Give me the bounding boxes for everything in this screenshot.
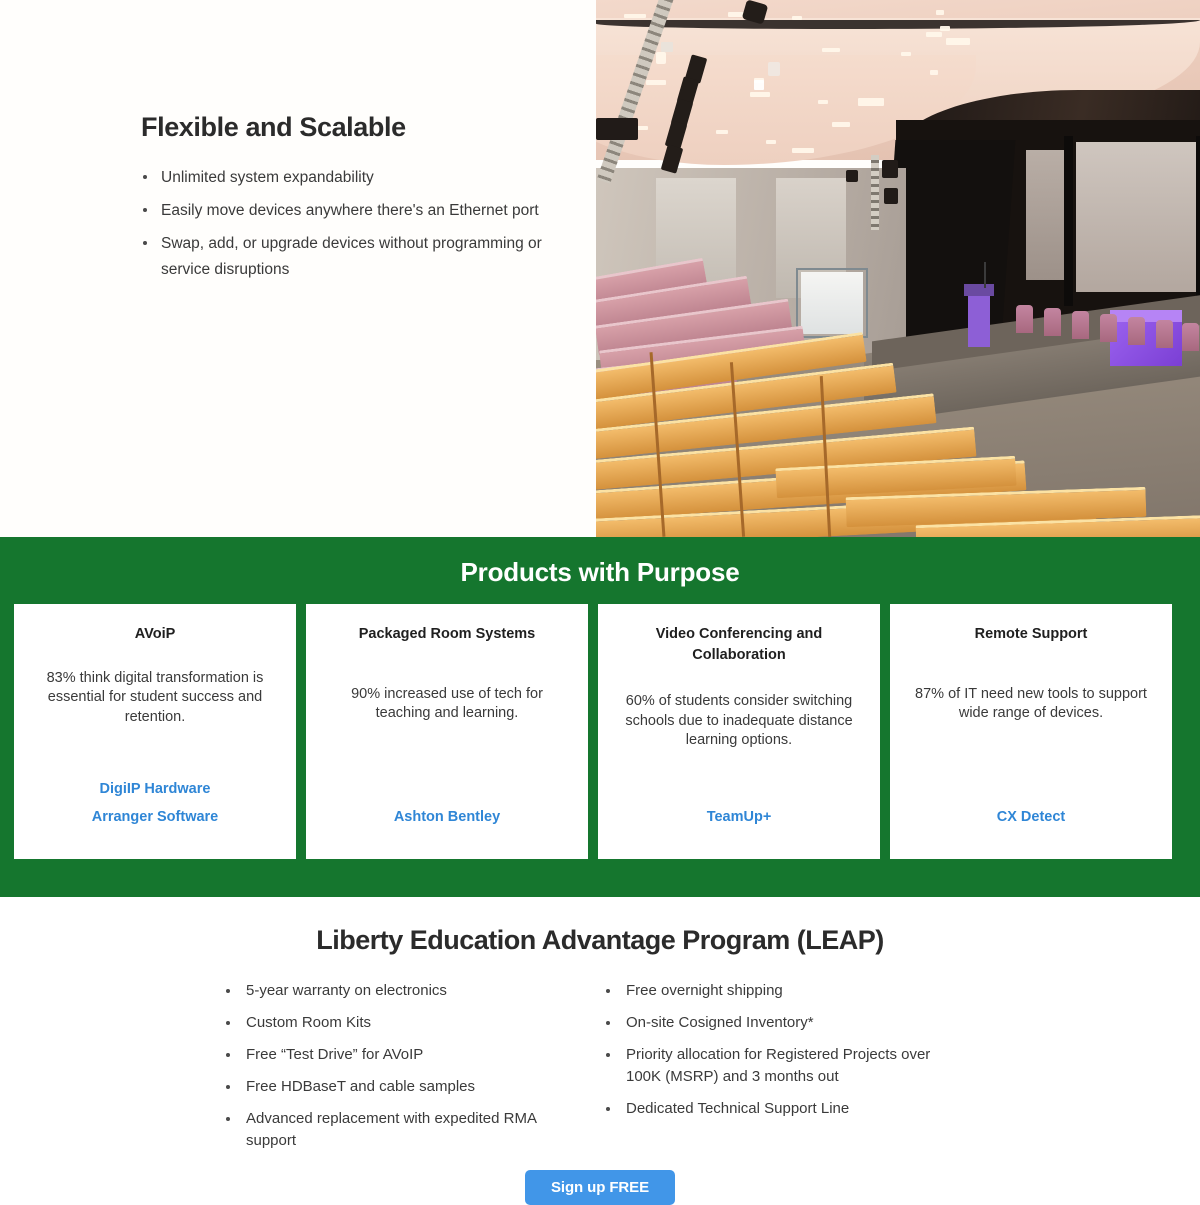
- list-item-label: Free overnight shipping: [626, 982, 783, 999]
- list-item-label: Custom Room Kits: [246, 1014, 371, 1031]
- auditorium-photo: [596, 0, 1200, 537]
- card-links: DigiIP Hardware Arranger Software: [30, 775, 280, 845]
- leap-right-column: Free overnight shipping On-site Cosigned…: [602, 980, 1002, 1162]
- bullet-dot-icon: [143, 175, 147, 179]
- card-links: CX Detect: [906, 803, 1156, 845]
- list-item: Free overnight shipping: [602, 980, 962, 1002]
- bullet-dot-icon: [606, 1021, 610, 1025]
- card-link[interactable]: TeamUp+: [614, 803, 864, 831]
- card-link[interactable]: Ashton Bentley: [322, 803, 572, 831]
- list-item: Unlimited system expandability: [141, 165, 581, 191]
- hero-text-block: Flexible and Scalable Unlimited system e…: [141, 112, 581, 290]
- hero-title: Flexible and Scalable: [141, 112, 581, 143]
- hero-bullet-list: Unlimited system expandability Easily mo…: [141, 165, 581, 283]
- card-link[interactable]: DigiIP Hardware: [30, 775, 280, 803]
- card-links: TeamUp+: [614, 803, 864, 845]
- list-item: On-site Cosigned Inventory*: [602, 1012, 962, 1034]
- list-item-label: Unlimited system expandability: [161, 169, 374, 186]
- card-title: Video Conferencing and Collaboration: [614, 624, 864, 666]
- list-item-label: Advanced replacement with expedited RMA …: [246, 1110, 536, 1149]
- card-title: AVoiP: [135, 624, 176, 645]
- card-stat: 87% of IT need new tools to support wide…: [906, 685, 1156, 724]
- list-item-label: Dedicated Technical Support Line: [626, 1100, 849, 1117]
- list-item-label: Priority allocation for Registered Proje…: [626, 1046, 930, 1085]
- bullet-dot-icon: [606, 989, 610, 993]
- list-item-label: 5-year warranty on electronics: [246, 982, 447, 999]
- card-title: Remote Support: [975, 624, 1088, 645]
- list-item: Free HDBaseT and cable samples: [222, 1076, 582, 1098]
- list-item: Dedicated Technical Support Line: [602, 1098, 962, 1120]
- card-link[interactable]: CX Detect: [906, 803, 1156, 831]
- bullet-dot-icon: [226, 989, 230, 993]
- products-section: Products with Purpose AVoiP 83% think di…: [0, 537, 1200, 897]
- list-item-label: Free “Test Drive” for AVoIP: [246, 1046, 423, 1063]
- product-card-video-conferencing[interactable]: Video Conferencing and Collaboration 60%…: [598, 604, 880, 859]
- bullet-dot-icon: [226, 1021, 230, 1025]
- list-item-label: Swap, add, or upgrade devices without pr…: [161, 235, 542, 278]
- product-cards: AVoiP 83% think digital transformation i…: [14, 604, 1172, 859]
- card-stat: 90% increased use of tech for teaching a…: [322, 685, 572, 724]
- list-item-label: Easily move devices anywhere there's an …: [161, 202, 539, 219]
- product-card-avoip[interactable]: AVoiP 83% think digital transformation i…: [14, 604, 296, 859]
- card-stat: 60% of students consider switching schoo…: [614, 692, 864, 751]
- bullet-dot-icon: [143, 208, 147, 212]
- leap-left-list: 5-year warranty on electronics Custom Ro…: [222, 980, 602, 1152]
- bullet-dot-icon: [226, 1117, 230, 1121]
- bullet-dot-icon: [143, 241, 147, 245]
- card-title: Packaged Room Systems: [359, 624, 536, 645]
- list-item: 5-year warranty on electronics: [222, 980, 582, 1002]
- card-stat: 83% think digital transformation is esse…: [30, 669, 280, 728]
- list-item: Advanced replacement with expedited RMA …: [222, 1108, 582, 1152]
- list-item-label: Free HDBaseT and cable samples: [246, 1078, 475, 1095]
- product-card-packaged-room-systems[interactable]: Packaged Room Systems 90% increased use …: [306, 604, 588, 859]
- bullet-dot-icon: [606, 1053, 610, 1057]
- hero-section: Flexible and Scalable Unlimited system e…: [0, 0, 1200, 537]
- list-item: Priority allocation for Registered Proje…: [602, 1044, 962, 1088]
- bullet-dot-icon: [606, 1107, 610, 1111]
- bullet-dot-icon: [226, 1053, 230, 1057]
- leap-title: Liberty Education Advantage Program (LEA…: [0, 897, 1200, 956]
- list-item: Free “Test Drive” for AVoIP: [222, 1044, 582, 1066]
- product-card-remote-support[interactable]: Remote Support 87% of IT need new tools …: [890, 604, 1172, 859]
- list-item-label: On-site Cosigned Inventory*: [626, 1014, 814, 1031]
- products-title: Products with Purpose: [0, 537, 1200, 588]
- card-link[interactable]: Arranger Software: [30, 803, 280, 831]
- list-item: Swap, add, or upgrade devices without pr…: [141, 231, 581, 283]
- leap-right-list: Free overnight shipping On-site Cosigned…: [602, 980, 1002, 1120]
- leap-columns: 5-year warranty on electronics Custom Ro…: [0, 980, 1200, 1162]
- list-item: Easily move devices anywhere there's an …: [141, 198, 581, 224]
- leap-section: Liberty Education Advantage Program (LEA…: [0, 897, 1200, 1200]
- list-item: Custom Room Kits: [222, 1012, 582, 1034]
- bullet-dot-icon: [226, 1085, 230, 1089]
- card-links: Ashton Bentley: [322, 803, 572, 845]
- leap-left-column: 5-year warranty on electronics Custom Ro…: [222, 980, 602, 1162]
